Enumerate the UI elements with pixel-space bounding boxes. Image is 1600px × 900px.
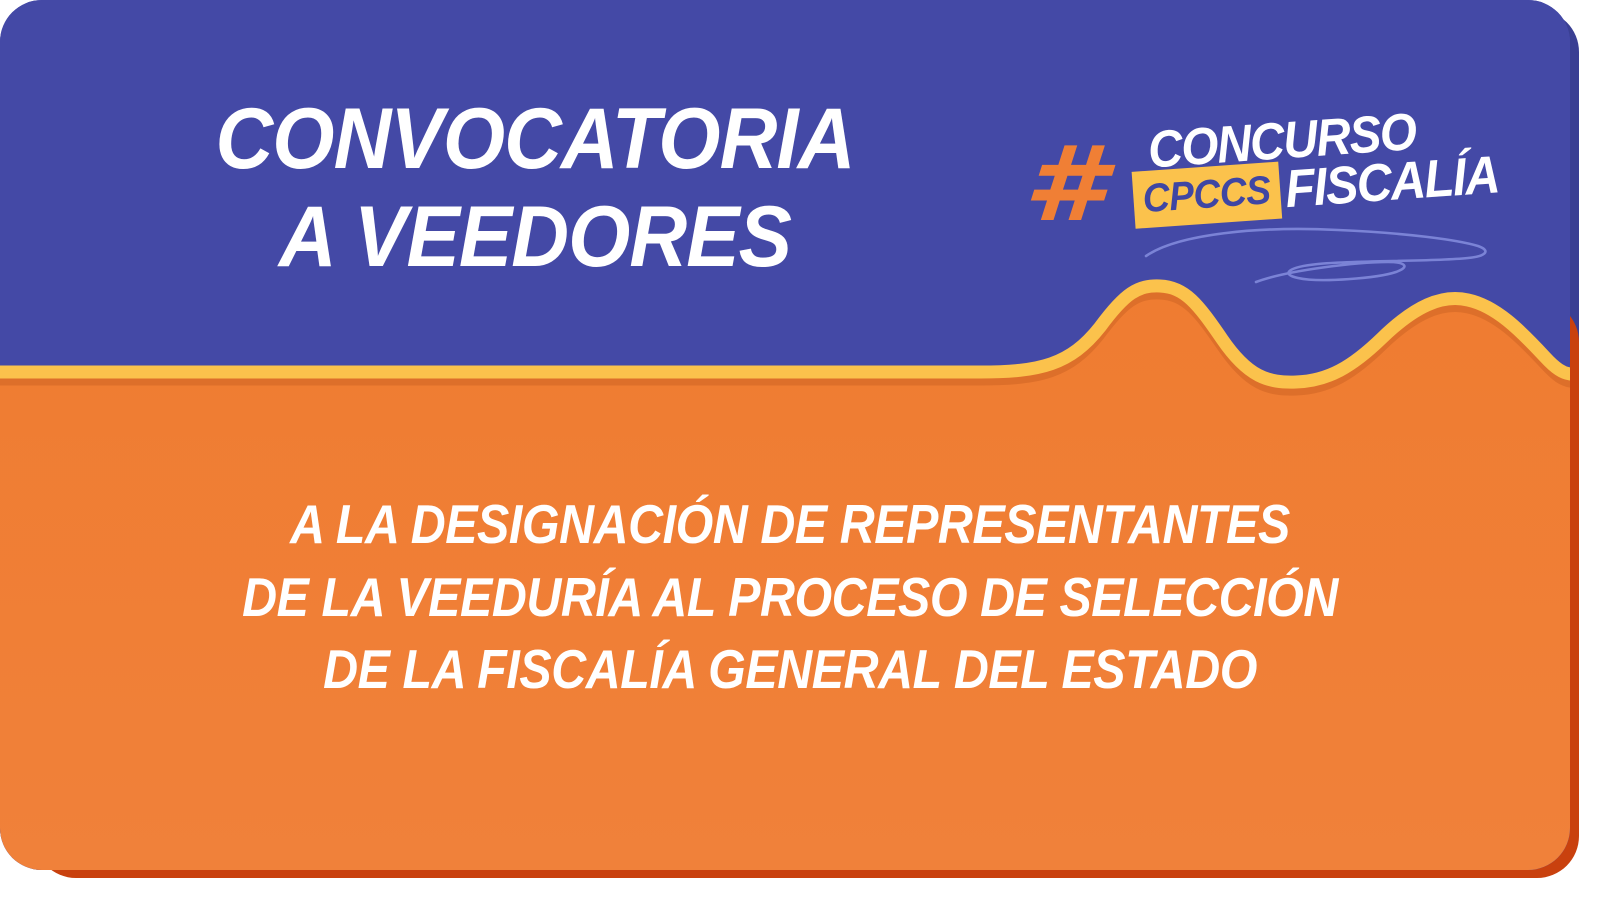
hashtag-icon: # — [1022, 132, 1100, 236]
poster-headline: CONVOCATORIA A VEEDORES — [149, 96, 921, 281]
body-line-2: DE LA VEEDURÍA AL PROCESO DE SELECCIÓN — [148, 561, 1433, 634]
headline-line-2: A VEEDORES — [149, 194, 921, 282]
body-line-1: A LA DESIGNACIÓN DE REPRESENTANTES — [148, 488, 1433, 561]
poster-body-copy: A LA DESIGNACIÓN DE REPRESENTANTES DE LA… — [148, 488, 1433, 706]
headline-line-1: CONVOCATORIA — [149, 96, 921, 184]
swoosh-flourish-icon — [1138, 216, 1498, 296]
poster-canvas: CONVOCATORIA A VEEDORES # CONCURSO CPCCS… — [0, 0, 1600, 900]
logo-fiscalia-text: FISCALÍA — [1283, 148, 1500, 216]
poster-card: CONVOCATORIA A VEEDORES # CONCURSO CPCCS… — [0, 0, 1570, 870]
campaign-logo: # CONCURSO CPCCS FISCALÍA — [1018, 120, 1518, 295]
body-line-3: DE LA FISCALÍA GENERAL DEL ESTADO — [148, 633, 1433, 706]
